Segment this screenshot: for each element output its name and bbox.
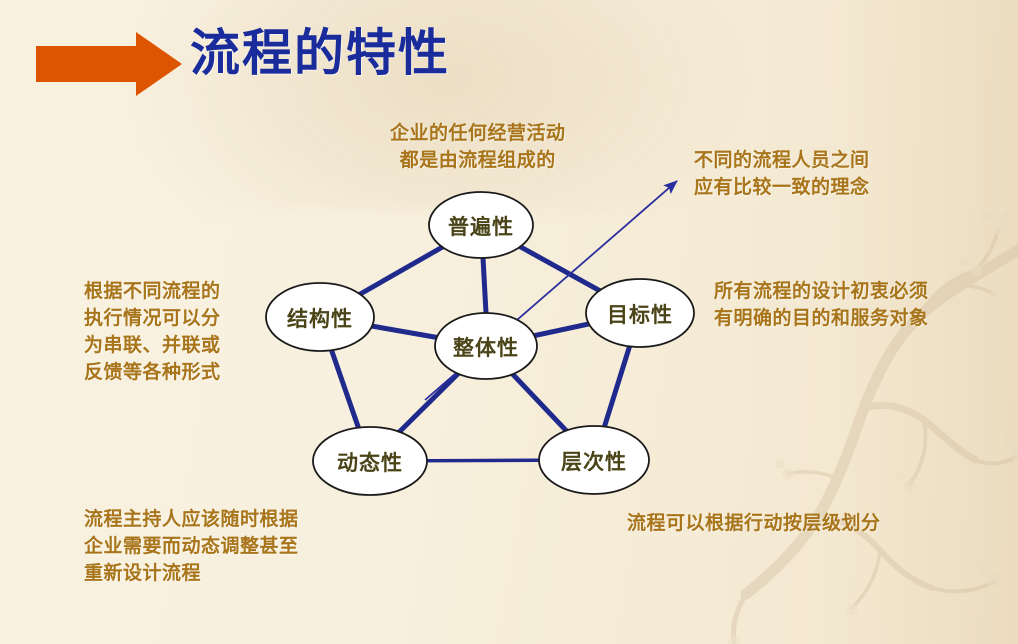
note-bottom-left: 流程主持人应该随时根据 企业需要而动态调整甚至 重新设计流程 <box>84 506 299 587</box>
note-top-right: 不同的流程人员之间 应有比较一致的理念 <box>694 147 870 201</box>
title-arrow-icon <box>36 32 182 96</box>
slide-canvas: 流程的特性 <box>0 0 1018 644</box>
note-bottom-right: 流程可以根据行动按层级划分 <box>627 510 881 537</box>
page-title: 流程的特性 <box>190 24 450 83</box>
note-top: 企业的任何经营活动 都是由流程组成的 <box>390 120 566 174</box>
note-left: 根据不同流程的 执行情况可以分 为串联、并联或 反馈等各种形式 <box>84 278 221 386</box>
note-right: 所有流程的设计初衷必须 有明确的目的和服务对象 <box>714 278 929 332</box>
